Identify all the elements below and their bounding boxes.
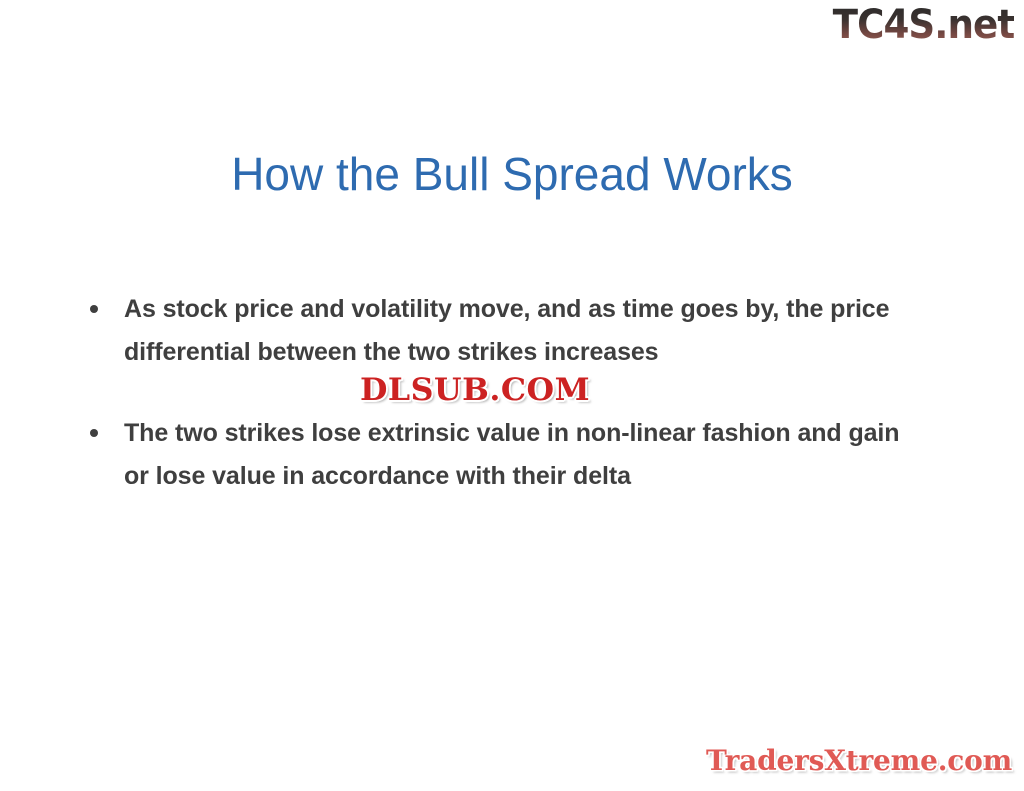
tradersxtreme-watermark: TradersXtreme.com [706,745,1012,777]
bullet-item-text: As stock price and volatility move, and … [124,288,914,374]
bullet-list-item: As stock price and volatility move, and … [84,288,924,374]
bullet-list-item: The two strikes lose extrinsic value in … [84,412,924,498]
slide-title: How the Bull Spread Works [0,145,1024,203]
dlsub-watermark: DLSUB.COM [360,373,590,407]
presentation-slide: TC4S.net How the Bull Spread Works As st… [0,0,1024,791]
tc4s-watermark-logo: TC4S.net [832,2,1014,48]
bullet-dot-icon [90,305,98,313]
bullet-item-text: The two strikes lose extrinsic value in … [124,412,914,498]
bullet-dot-icon [90,429,98,437]
